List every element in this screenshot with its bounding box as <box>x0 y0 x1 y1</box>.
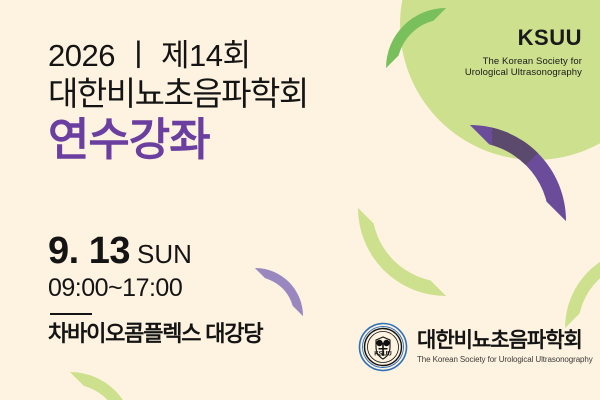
poster-headline: 2026ㅣ제14회 대한비뇨초음파학회 연수강좌 <box>48 38 308 165</box>
headline-society-name: 대한비뇨초음파학회 <box>48 75 308 113</box>
svg-text:KSUU: KSUU <box>374 350 392 357</box>
green-arc-bottom-right-icon <box>565 248 600 328</box>
ksuu-emblem-icon: KSUU <box>358 322 408 372</box>
conference-poster: KSUU The Korean Society for Urological U… <box>0 0 600 400</box>
headline-year-edition: 2026ㅣ제14회 <box>48 38 308 74</box>
event-date-row: 9. 13 SUN <box>48 232 262 270</box>
ksuu-wordmark-subtitle-line2: Urological Ultrasonography <box>465 67 582 79</box>
headline-separator: ㅣ <box>115 38 161 74</box>
ksuu-wordmark-subtitle-line1: The Korean Society for <box>465 56 582 68</box>
headline-edition: 제14회 <box>161 38 251 73</box>
purple-arc-overlap-icon <box>470 125 566 221</box>
green-arc-top-icon <box>386 8 446 68</box>
green-arc-bottom-left-icon <box>70 372 134 400</box>
event-date: 9. 13 <box>48 232 130 270</box>
ksuu-wordmark-title: KSUU <box>465 24 582 52</box>
society-logo-text: 대한비뇨초음파학회 The Korean Society for Urologi… <box>417 329 593 364</box>
event-day-of-week: SUN <box>137 241 192 267</box>
headline-event-name: 연수강좌 <box>48 115 308 165</box>
event-info-block: 9. 13 SUN 09:00~17:00 차바이오콤플렉스 대강당 <box>48 232 262 345</box>
event-time: 09:00~17:00 <box>48 276 262 301</box>
event-venue: 차바이오콤플렉스 대강당 <box>48 323 262 345</box>
ksuu-wordmark: KSUU The Korean Society for Urological U… <box>465 24 582 79</box>
info-divider <box>50 313 92 315</box>
purple-arc-large-icon <box>470 125 566 221</box>
society-logo: KSUU 대한비뇨초음파학회 The Korean Society for Ur… <box>358 322 593 372</box>
green-arc-middle-icon <box>358 208 446 296</box>
society-name-english: The Korean Society for Urological Ultras… <box>417 355 593 364</box>
society-name-korean: 대한비뇨초음파학회 <box>417 329 593 353</box>
headline-year: 2026 <box>48 38 115 73</box>
